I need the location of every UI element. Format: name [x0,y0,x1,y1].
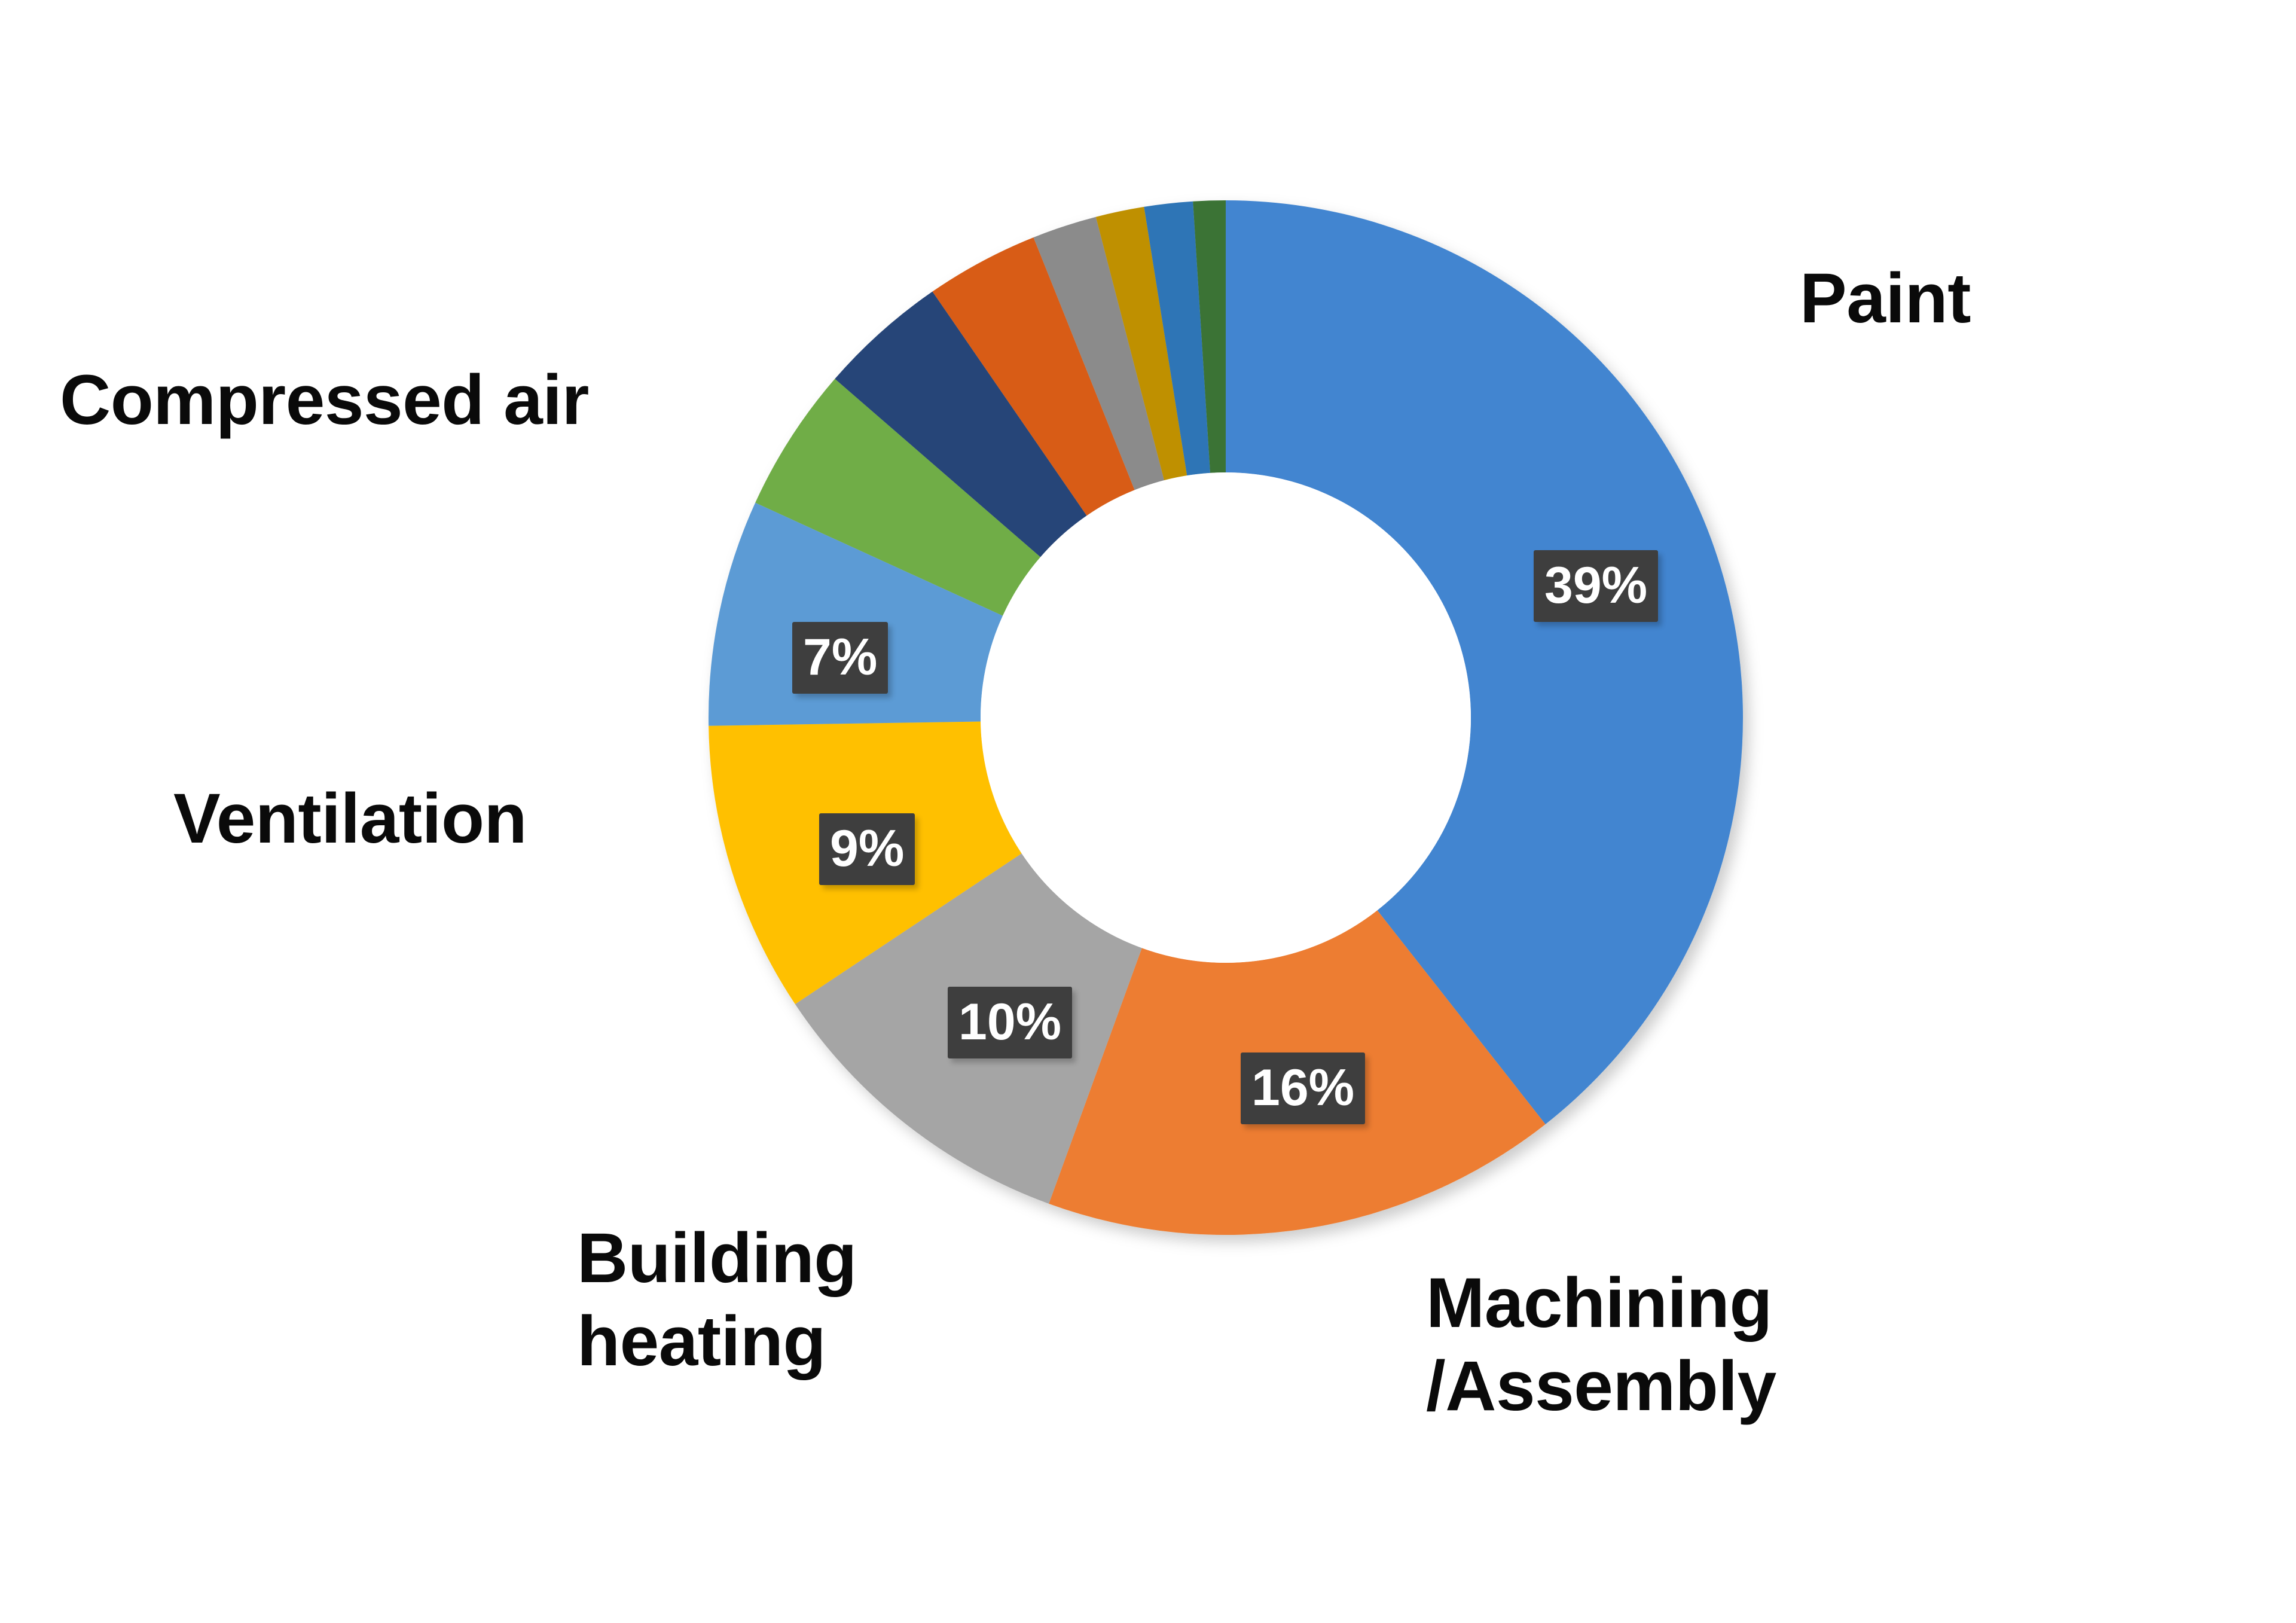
callout-label-paint: Paint [1800,257,1971,340]
callout-label-compressed-air: Compressed air [60,359,589,442]
chart-page: Paint Compressed air Ventilation Buildin… [0,0,2296,1623]
callout-label-building-heating: Building heating [577,1217,857,1383]
donut-hole [981,472,1471,963]
data-label-machining-assembly: 16% [1241,1052,1365,1124]
callout-label-machining-assembly: Machining /Assembly [1426,1262,1776,1428]
donut-chart: Paint Compressed air Ventilation Buildin… [0,0,2296,1623]
data-label-ventilation: 9% [819,813,915,885]
data-label-building-heating: 10% [948,987,1072,1058]
data-label-paint: 39% [1534,550,1658,622]
data-label-compressed-air: 7% [792,622,888,694]
callout-label-ventilation: Ventilation [173,777,527,861]
